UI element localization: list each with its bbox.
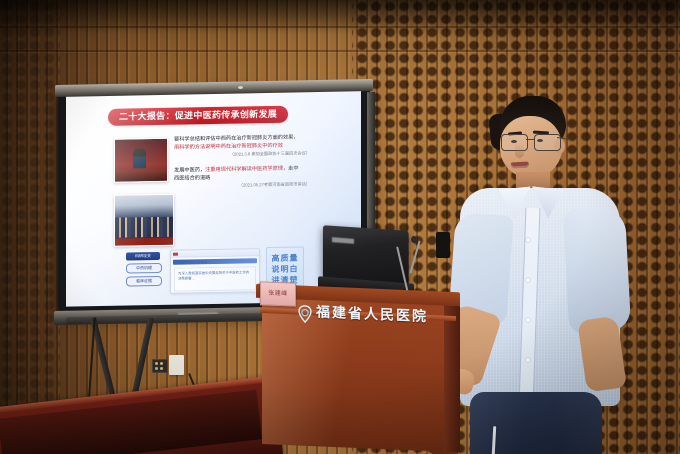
power-outlet[interactable] [152,359,168,373]
outlet-socket-icon [160,367,163,370]
display-camera-icon [238,86,243,89]
document-header: 国家中医药管理局 [171,249,259,258]
slide-button-item-0: 中药机理 [126,263,162,274]
presentation-room-photo: 二十大报告：促进中医药传承创新发展 要科学总结和评估中西药在治疗新冠肺炎方面的效… [0,0,680,454]
slide-title-text: 二十大报告：促进中医药传承创新发展 [108,106,288,126]
slide-text-seg-b: 注重用现代科学解读中医药学原理 [205,166,283,173]
podium-nameplate: 张建峰 [260,281,296,306]
wall-plate [169,355,184,375]
outlet-socket-icon [155,362,158,365]
nose [515,144,524,158]
slide-text-seg-a: 发展中医药， [174,167,205,174]
desk-speaker-box [436,232,450,258]
microphone-capsule-icon [411,236,417,243]
highlight-line-2: 说明白 [272,264,299,275]
outlet-socket-icon [155,367,158,370]
eyeglasses-icon [501,134,563,150]
document-title-bar: 关于加强中医药科研攻关的通知 [173,258,257,264]
sleeve-right [563,206,631,333]
highlight-line-1: 高质量 [272,253,299,264]
slide-photo-group [114,194,174,247]
slide-document-card: 国家中医药管理局 关于加强中医药科研攻关的通知 为深入贯彻落实党中央国务院关于中… [170,248,260,294]
podium: 福建省人民医院 张建峰 [258,288,458,454]
mouth [511,162,529,169]
slide-screen: 二十大报告：促进中医药传承创新发展 要科学总结和评估中西药在治疗新冠肺炎方面的效… [66,90,361,306]
shirt-button [526,238,530,242]
nameplate-text: 张建峰 [261,282,295,305]
slide-button-panel: 科研攻关 中药机理 临床证据 [126,252,160,287]
outlet-socket-icon [160,362,163,365]
slide-title-banner: 二十大报告：促进中医药传承创新发展 [108,106,288,126]
presenter [438,96,638,454]
shirt-button [526,278,530,282]
presenter-laptop[interactable] [322,228,416,294]
slide-button-header: 科研攻关 [126,252,160,261]
trousers-shading [470,392,602,454]
document-seal-icon [173,252,178,255]
slide-button-item-1: 临床证据 [126,276,162,287]
slide-text-block: 要科学总结和评估中西药在治疗新冠肺炎方面的效果， 用科学的方法说明中药在治疗新冠… [174,133,310,190]
slide-text-seg-c: ，走中 [283,166,299,172]
shirt-button [526,358,530,362]
shirt-button [526,318,530,322]
slide-photo-speaker [114,138,168,183]
document-body-text: 为深入贯彻落实党中央国务院关于中医药工作的决策部署… [178,270,252,281]
hospital-logo-icon [296,304,314,325]
